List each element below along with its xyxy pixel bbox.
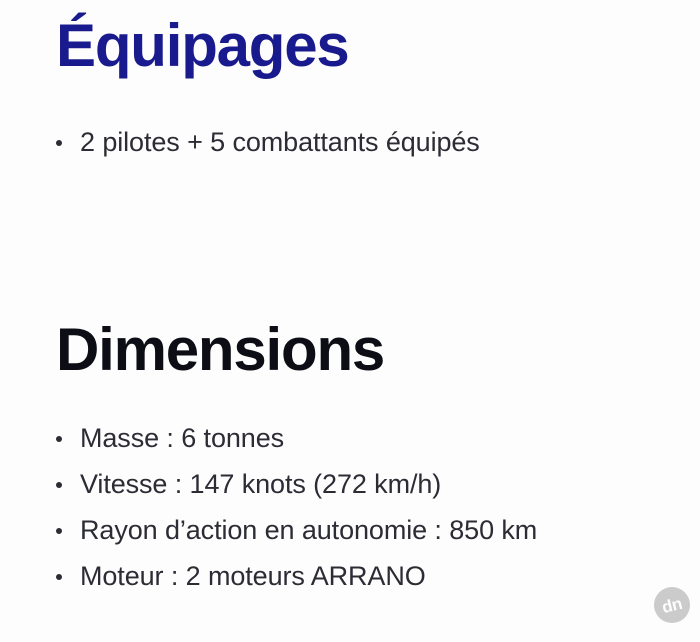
list-item-label: Moteur : 2 moteurs ARRANO: [80, 560, 426, 593]
bullet-list-dimensions: Masse : 6 tonnes Vitesse : 147 knots (27…: [54, 422, 537, 593]
watermark-badge-icon: dn: [654, 587, 690, 623]
watermark-label: dn: [660, 594, 683, 615]
list-item-label: 2 pilotes + 5 combattants équipés: [80, 126, 480, 159]
list-item-label: Rayon d’action en autonomie : 850 km: [80, 514, 537, 547]
slide-content: Équipages 2 pilotes + 5 combattants équi…: [0, 0, 700, 642]
bullet-dot-icon: [56, 482, 62, 488]
list-item: Rayon d’action en autonomie : 850 km: [54, 514, 537, 547]
bullet-dot-icon: [56, 528, 62, 534]
list-item: Moteur : 2 moteurs ARRANO: [54, 560, 537, 593]
list-item-label: Masse : 6 tonnes: [80, 422, 284, 455]
list-item: Vitesse : 147 knots (272 km/h): [54, 468, 537, 501]
bullet-dot-icon: [56, 574, 62, 580]
heading-dimensions: Dimensions: [56, 318, 384, 381]
bullet-list-crews: 2 pilotes + 5 combattants équipés: [54, 126, 480, 159]
bullet-dot-icon: [56, 436, 62, 442]
heading-equipages: Équipages: [56, 14, 349, 77]
list-item: 2 pilotes + 5 combattants équipés: [54, 126, 480, 159]
list-item-label: Vitesse : 147 knots (272 km/h): [80, 468, 441, 501]
bullet-dot-icon: [56, 140, 62, 146]
list-item: Masse : 6 tonnes: [54, 422, 537, 455]
